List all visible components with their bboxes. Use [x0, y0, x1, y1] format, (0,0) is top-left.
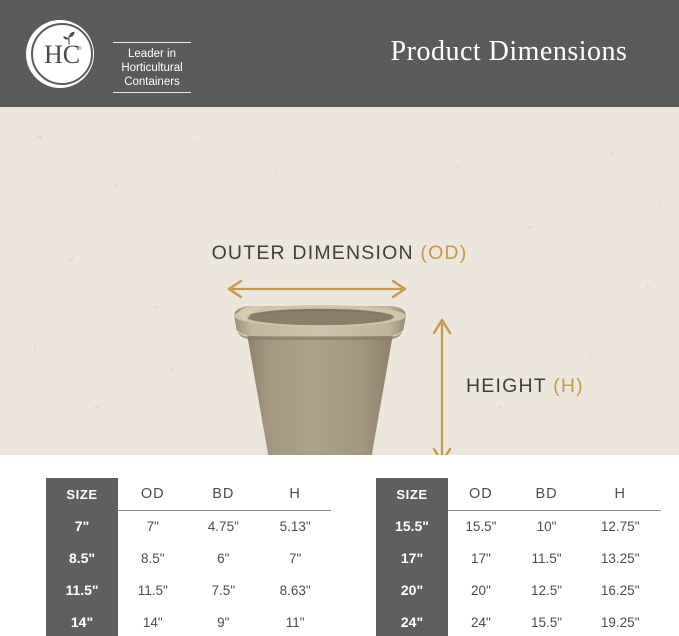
col-header-bd: BD [187, 478, 259, 510]
col-header-od: OD [448, 478, 514, 510]
col-header-od: OD [118, 478, 187, 510]
outer-dimension-arrow [222, 277, 412, 301]
cell-od: 17" [448, 542, 514, 574]
logo-trademark: ® [78, 46, 82, 52]
cell-bd: 4.75" [187, 510, 259, 542]
col-header-bd: BD [514, 478, 580, 510]
diagram-panel: OUTER DIMENSION (OD) BASE DIMENSION (BD)… [0, 107, 679, 455]
logo-circle-badge: HC ® [26, 20, 94, 88]
outer-dimension-text: OUTER DIMENSION [212, 242, 414, 264]
size-table-right: SIZE OD BD H 15.5" 15.5" 10" 12.75" 17" … [376, 478, 661, 636]
size-chart-large: SIZE OD BD H 15.5" 15.5" 10" 12.75" 17" … [376, 478, 661, 636]
tagline-line-3: Containers [102, 75, 202, 89]
cell-bd: 11.5" [514, 542, 580, 574]
table-row: 17" 17" 11.5" 13.25" [376, 542, 661, 574]
cell-bd: 15.5" [514, 606, 580, 636]
table-row: 7" 7" 4.75" 5.13" [46, 510, 331, 542]
cell-size: 15.5" [376, 510, 448, 542]
logo-monogram: HC [31, 42, 93, 68]
cell-h: 7" [259, 542, 331, 574]
table-row: 11.5" 11.5" 7.5" 8.63" [46, 574, 331, 606]
cell-size: 24" [376, 606, 448, 636]
col-header-size: SIZE [376, 478, 448, 510]
cell-od: 11.5" [118, 574, 187, 606]
height-text: HEIGHT [466, 375, 547, 397]
cell-od: 24" [448, 606, 514, 636]
brand-tagline: Leader in Horticultural Containers [102, 42, 202, 93]
table-row: 20" 20" 12.5" 16.25" [376, 574, 661, 606]
cell-size: 17" [376, 542, 448, 574]
cell-od: 15.5" [448, 510, 514, 542]
cell-h: 5.13" [259, 510, 331, 542]
cell-od: 7" [118, 510, 187, 542]
cell-h: 12.75" [579, 510, 661, 542]
cell-bd: 6" [187, 542, 259, 574]
product-dimensions-infographic: HC ® Leader in Horticultural Containers … [0, 0, 679, 636]
outer-dimension-label: OUTER DIMENSION (OD) [0, 242, 679, 265]
size-table-left: SIZE OD BD H 7" 7" 4.75" 5.13" 8.5" 8.5"… [46, 478, 331, 636]
cell-od: 8.5" [118, 542, 187, 574]
cell-bd: 12.5" [514, 574, 580, 606]
table-header-row: SIZE OD BD H [46, 478, 331, 510]
cell-size: 14" [46, 606, 118, 636]
table-row: 24" 24" 15.5" 19.25" [376, 606, 661, 636]
tagline-text: Leader in Horticultural Containers [102, 43, 202, 92]
tagline-line-1: Leader in [102, 47, 202, 61]
cell-size: 20" [376, 574, 448, 606]
cell-od: 14" [118, 606, 187, 636]
height-label: HEIGHT (H) [466, 375, 584, 398]
tagline-line-2: Horticultural [102, 61, 202, 75]
col-header-h: H [579, 478, 661, 510]
table-row: 14" 14" 9" 11" [46, 606, 331, 636]
height-arrow [430, 314, 454, 455]
table-row: 8.5" 8.5" 6" 7" [46, 542, 331, 574]
brand-logo: HC ® Leader in Horticultural Containers [24, 20, 184, 90]
cell-h: 19.25" [579, 606, 661, 636]
cell-h: 13.25" [579, 542, 661, 574]
table-header-row: SIZE OD BD H [376, 478, 661, 510]
tagline-rule-bottom [113, 92, 191, 93]
table-row: 15.5" 15.5" 10" 12.75" [376, 510, 661, 542]
col-header-h: H [259, 478, 331, 510]
cell-size: 8.5" [46, 542, 118, 574]
cell-h: 16.25" [579, 574, 661, 606]
cell-bd: 9" [187, 606, 259, 636]
col-header-size: SIZE [46, 478, 118, 510]
cell-h: 8.63" [259, 574, 331, 606]
cell-size: 11.5" [46, 574, 118, 606]
cell-bd: 10" [514, 510, 580, 542]
size-chart-small: SIZE OD BD H 7" 7" 4.75" 5.13" 8.5" 8.5"… [46, 478, 331, 636]
planter-pot-illustration [228, 302, 412, 455]
cell-h: 11" [259, 606, 331, 636]
header-bar: HC ® Leader in Horticultural Containers … [0, 0, 679, 107]
height-abbr: (H) [553, 375, 584, 397]
cell-size: 7" [46, 510, 118, 542]
outer-dimension-abbr: (OD) [420, 242, 467, 264]
cell-bd: 7.5" [187, 574, 259, 606]
page-title: Product Dimensions [339, 36, 679, 68]
cell-od: 20" [448, 574, 514, 606]
